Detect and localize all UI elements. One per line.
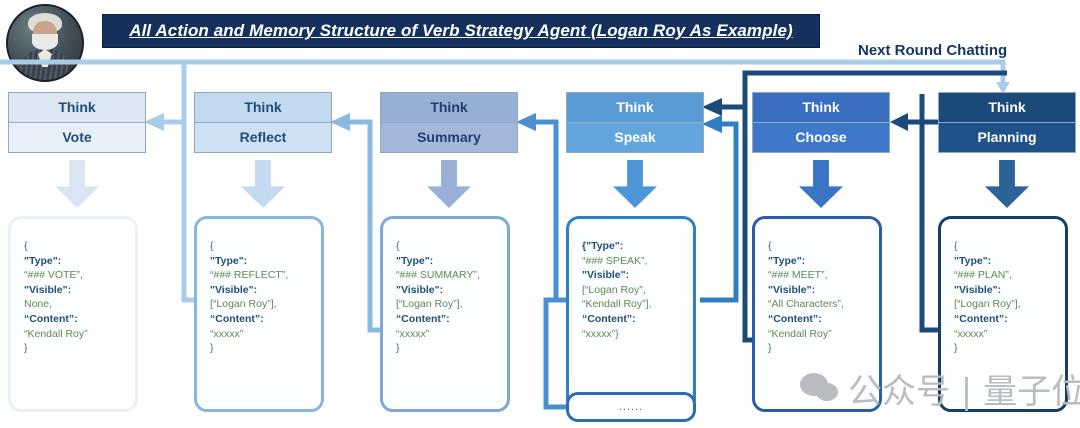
next-round-chatting-label: Next Round Chatting [858, 42, 1007, 59]
memory-box-summary[interactable]: {"Type":“### SUMMARY”,"Visible":[“Logan … [380, 216, 510, 412]
action-label-reflect: Reflect [240, 129, 287, 145]
think-label: Think [616, 99, 653, 115]
wechat-icon [800, 373, 840, 403]
think-row-speak: Think [567, 93, 703, 123]
memory-line: “xxxxx”} [582, 327, 693, 342]
memory-line: “Kendall Roy” [24, 327, 135, 342]
action-label-choose: Choose [795, 129, 846, 145]
action-label-planning: Planning [977, 129, 1036, 145]
action-label-speak: Speak [614, 129, 655, 145]
avatar-beard [32, 34, 58, 50]
memory-line: } [396, 341, 507, 356]
memory-box-vote[interactable]: {"Type":“### VOTE”,"Visible":None,“Conte… [8, 216, 138, 412]
memory-line: “xxxxx” [396, 327, 507, 342]
action-row-planning: Planning [939, 123, 1075, 153]
memory-line: } [24, 341, 135, 356]
down-arrow-vote [55, 160, 99, 208]
memory-line: "Visible": [768, 283, 879, 298]
action-row-summary: Summary [381, 123, 517, 153]
memory-line: “### SPEAK”, [582, 254, 693, 269]
action-card-choose[interactable]: ThinkChoose [752, 92, 890, 153]
memory-line: { [768, 239, 879, 254]
memory-line: "Type": [768, 254, 879, 269]
memory-line: “Content”: [768, 312, 879, 327]
memory-line: } [210, 341, 321, 356]
ellipsis-box[interactable]: ...... [566, 392, 696, 422]
memory-line: } [768, 341, 879, 356]
action-card-speak[interactable]: ThinkSpeak [566, 92, 704, 153]
diagram-canvas: All Action and Memory Structure of Verb … [0, 0, 1080, 428]
memory-line: “### REFLECT”, [210, 268, 321, 283]
memory-line: "Type": [396, 254, 507, 269]
action-card-vote[interactable]: ThinkVote [8, 92, 146, 153]
memory-box-speak[interactable]: {"Type":“### SPEAK”,"Visible":[“Logan Ro… [566, 216, 696, 412]
memory-line: "Visible": [954, 283, 1065, 298]
memory-line: {"Type": [582, 239, 693, 254]
ellipsis-label: ...... [619, 401, 643, 413]
think-label: Think [430, 99, 467, 115]
think-row-vote: Think [9, 93, 145, 123]
memory-line: “Content”: [954, 312, 1065, 327]
page-title: All Action and Memory Structure of Verb … [129, 21, 793, 41]
diagram-title-bar: All Action and Memory Structure of Verb … [102, 14, 820, 48]
memory-line: “### VOTE”, [24, 268, 135, 283]
action-card-summary[interactable]: ThinkSummary [380, 92, 518, 153]
think-row-planning: Think [939, 93, 1075, 123]
watermark: 公众号 | 量子位 [800, 360, 1072, 416]
down-arrow-speak [613, 160, 657, 208]
down-arrow-planning [985, 160, 1029, 208]
memory-line: None, [24, 297, 135, 312]
action-row-choose: Choose [753, 123, 889, 153]
memory-line: [“Logan Roy”], [396, 297, 507, 312]
think-row-reflect: Think [195, 93, 331, 123]
memory-line: “All Characters”, [768, 297, 879, 312]
memory-line: “Content”: [582, 312, 693, 327]
think-label: Think [244, 99, 281, 115]
memory-line: [“Logan Roy”], [954, 297, 1065, 312]
memory-line: "Type": [954, 254, 1065, 269]
watermark-text: 公众号 | 量子位 [848, 364, 1080, 413]
logan-roy-avatar-icon [6, 4, 84, 82]
memory-line: [“Logan Roy”], [210, 297, 321, 312]
memory-box-reflect[interactable]: {"Type":“### REFLECT”,"Visible":[“Logan … [194, 216, 324, 412]
down-arrow-choose [799, 160, 843, 208]
memory-line: “Content”: [24, 312, 135, 327]
memory-line: "Visible": [24, 283, 135, 298]
memory-line: "Type": [24, 254, 135, 269]
memory-line: } [954, 341, 1065, 356]
memory-line: “Content”: [210, 312, 321, 327]
think-row-summary: Think [381, 93, 517, 123]
memory-line: [“Logan Roy”, [582, 283, 693, 298]
think-label: Think [58, 99, 95, 115]
memory-line: “### PLAN”, [954, 268, 1065, 283]
action-row-vote: Vote [9, 123, 145, 153]
down-arrow-summary [427, 160, 471, 208]
memory-line: “Kendall Roy” [768, 327, 879, 342]
memory-line: “xxxxx” [954, 327, 1065, 342]
action-row-speak: Speak [567, 123, 703, 153]
action-label-summary: Summary [417, 129, 481, 145]
memory-line: "Type": [210, 254, 321, 269]
memory-line: “### MEET”, [768, 268, 879, 283]
action-card-planning[interactable]: ThinkPlanning [938, 92, 1076, 153]
memory-line: “Content”: [396, 312, 507, 327]
memory-line: { [24, 239, 135, 254]
think-row-choose: Think [753, 93, 889, 123]
action-label-vote: Vote [62, 129, 91, 145]
think-label: Think [802, 99, 839, 115]
memory-line: "Visible": [210, 283, 321, 298]
memory-line: “xxxxx” [210, 327, 321, 342]
memory-line: “Kendall Roy”], [582, 297, 693, 312]
action-row-reflect: Reflect [195, 123, 331, 153]
down-arrow-reflect [241, 160, 285, 208]
memory-line: "Visible": [582, 268, 693, 283]
memory-line: { [396, 239, 507, 254]
think-label: Think [988, 99, 1025, 115]
action-card-reflect[interactable]: ThinkReflect [194, 92, 332, 153]
memory-line: { [210, 239, 321, 254]
memory-line: "Visible": [396, 283, 507, 298]
memory-line: { [954, 239, 1065, 254]
memory-line: “### SUMMARY”, [396, 268, 507, 283]
